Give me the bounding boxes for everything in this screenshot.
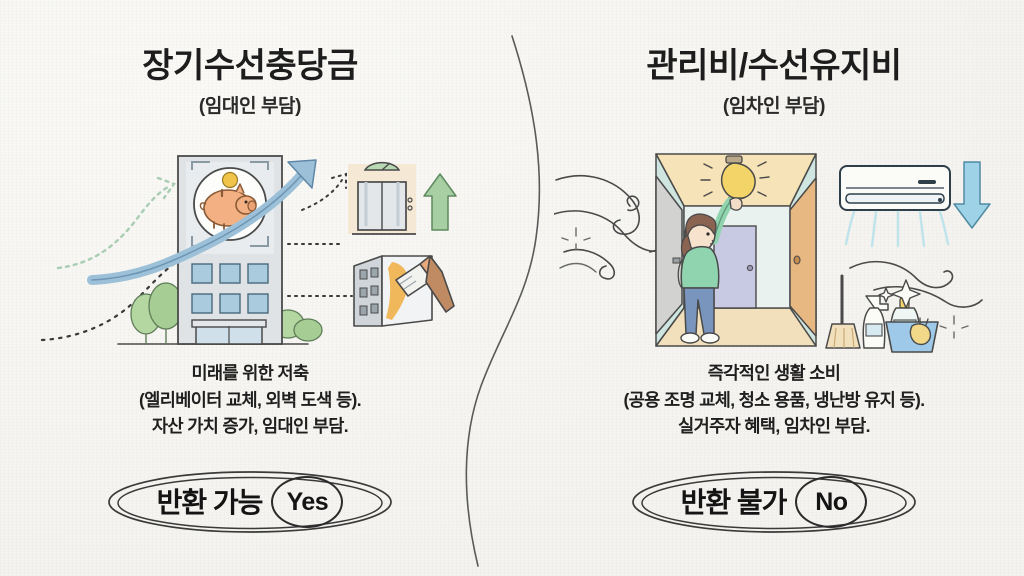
right-body-text: 즉각적인 생활 소비 (공용 조명 교체, 청소 용품, 냉난방 유지 등). … (524, 360, 1024, 440)
left-body-line-2: (엘리베이터 교체, 외벽 도색 등). (0, 387, 500, 414)
broom-head (826, 324, 860, 348)
ac-airflow (846, 212, 948, 246)
left-body-line-3: 자산 가치 증가, 임대인 부담. (0, 413, 500, 440)
right-badge-english: No (795, 476, 867, 528)
sparkle-left (562, 228, 590, 250)
left-body-text: 미래를 위한 저축 (엘리베이터 교체, 외벽 도색 등). 자산 가치 증가,… (0, 360, 500, 440)
infographic-stage: 장기수선충당금 (임대인 부담) (0, 0, 1024, 576)
left-title-block: 장기수선충당금 (임대인 부담) (0, 48, 500, 118)
column-left: 장기수선충당금 (임대인 부담) (0, 0, 500, 576)
sparkle-right (940, 316, 968, 338)
right-subtitle: (임차인 부담) (524, 91, 1024, 118)
right-title: 관리비/수선유지비 (640, 48, 907, 85)
blue-down-arrow (954, 162, 990, 228)
gold-coin (223, 173, 238, 188)
left-title: 장기수선충당금 (136, 48, 363, 85)
dotted-green-arrow (58, 178, 174, 268)
trees-left (131, 283, 183, 344)
elevator-icon (348, 163, 416, 234)
right-illustration (524, 148, 1024, 353)
left-title-text: 장기수선충당금 (142, 47, 357, 85)
right-badge-korean: 반환 불가 (681, 481, 787, 521)
airflow-swoosh-left (554, 176, 664, 279)
left-illustration (0, 148, 500, 353)
green-up-arrow (424, 174, 456, 230)
left-badge-korean: 반환 가능 (157, 481, 263, 521)
left-badge-english: Yes (271, 476, 343, 528)
left-badge: 반환 가능 Yes (100, 468, 400, 536)
right-body-line-2: (공용 조명 교체, 청소 용품, 냉난방 유지 등). (524, 387, 1024, 414)
left-subtitle: (임대인 부담) (0, 91, 500, 118)
spray-bottle (863, 296, 888, 348)
right-title-block: 관리비/수선유지비 (임차인 부담) (524, 48, 1024, 118)
right-body-line-3: 실거주자 혜택, 임차인 부담. (524, 413, 1024, 440)
swirl-icon (627, 196, 638, 210)
right-body-line-1: 즉각적인 생활 소비 (524, 360, 1024, 387)
column-right: 관리비/수선유지비 (임차인 부담) (524, 0, 1024, 576)
left-body-line-1: 미래를 위한 저축 (0, 360, 500, 387)
air-conditioner (840, 166, 950, 246)
building-repaint-icon (354, 256, 454, 326)
right-badge: 반환 불가 No (624, 468, 924, 536)
right-title-text: 관리비/수선유지비 (646, 47, 901, 85)
connector-dots (288, 174, 352, 296)
